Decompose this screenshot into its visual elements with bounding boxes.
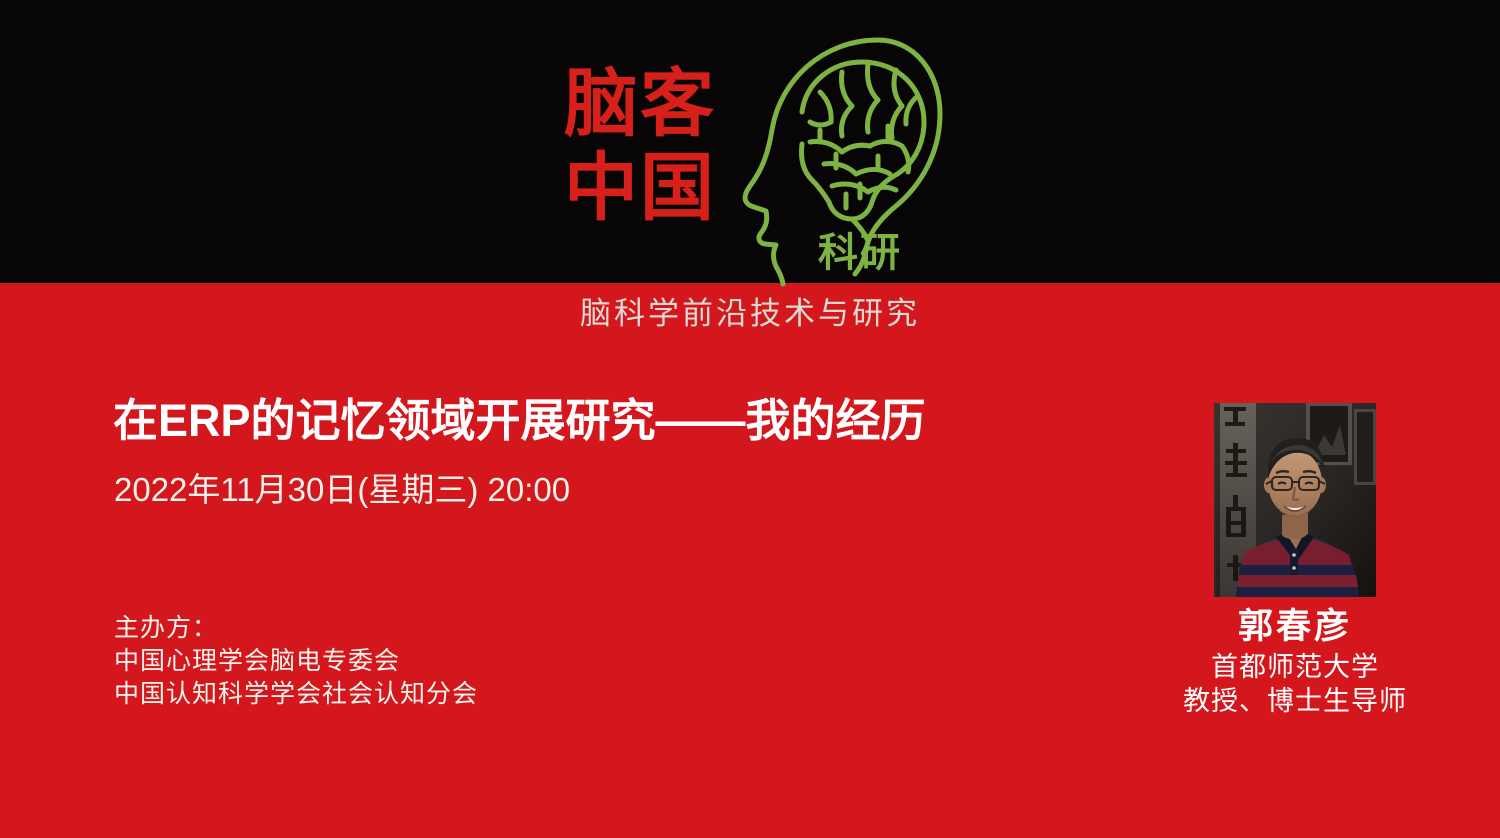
- speaker-name: 郭春彦: [1135, 606, 1455, 648]
- speaker-role: 教授、博士生导师: [1135, 684, 1455, 718]
- brand-wordmark: 脑客 中国: [564, 62, 744, 230]
- webinar-poster: 脑客 中国: [0, 0, 1500, 838]
- organizer-block: 主办方： 中国心理学会脑电专委会 中国认知科学学会社会认知分会: [114, 612, 478, 711]
- speaker-portrait: [1214, 403, 1376, 597]
- speaker-affiliation: 首都师范大学: [1135, 650, 1455, 684]
- page-title: 在ERP的记忆领域开展研究——我的经历: [113, 395, 926, 447]
- speaker-info: 郭春彦 首都师范大学 教授、博士生导师: [1135, 606, 1455, 718]
- brand-wordmark-line2: 中国: [564, 146, 744, 230]
- brand-sub-label: 科研: [818, 230, 902, 276]
- brand-logo: 脑客 中国: [556, 34, 946, 289]
- tagline: 脑科学前沿技术与研究: [0, 296, 1500, 332]
- organizer-line-1: 中国心理学会脑电专委会: [114, 645, 478, 678]
- organizer-line-2: 中国认知科学学会社会认知分会: [114, 678, 478, 711]
- brand-wordmark-line1: 脑客: [564, 62, 744, 146]
- organizer-label: 主办方：: [114, 612, 478, 645]
- event-datetime: 2022年11月30日(星期三) 20:00: [114, 470, 570, 510]
